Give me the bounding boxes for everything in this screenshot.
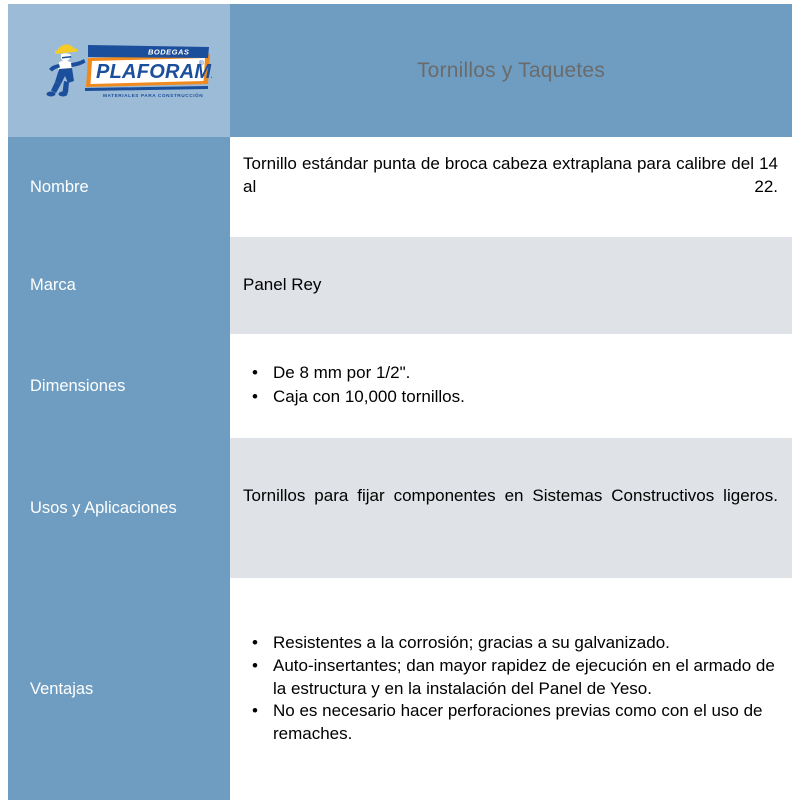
- logo-cell: PLAFORAMA ® BODEGAS MATERIALES PARA CONS…: [8, 4, 230, 137]
- bullet-icon: •: [252, 655, 258, 678]
- table-row: Usos y Aplicaciones Tornillos para fijar…: [8, 438, 792, 578]
- list-item: • Resistentes a la corrosión; gracias a …: [243, 632, 778, 655]
- svg-text:MATERIALES PARA CONSTRUCCIÓN: MATERIALES PARA CONSTRUCCIÓN: [103, 91, 203, 99]
- list-item-text: Resistentes a la corrosión; gracias a su…: [273, 633, 670, 652]
- spec-table: Nombre Tornillo estándar punta de broca …: [8, 137, 792, 800]
- row-value-marca: Panel Rey: [230, 237, 792, 334]
- list-item: • Auto-insertantes; dan mayor rapidez de…: [243, 655, 778, 701]
- svg-text:®: ®: [199, 59, 204, 67]
- list-item: • Caja con 10,000 tornillos.: [243, 386, 778, 409]
- header-title-cell: Tornillos y Taquetes: [230, 4, 792, 137]
- header-band: PLAFORAMA ® BODEGAS MATERIALES PARA CONS…: [8, 4, 792, 137]
- page-title: Tornillos y Taquetes: [417, 59, 605, 83]
- list-item-text: Caja con 10,000 tornillos.: [273, 387, 465, 406]
- list-item: • De 8 mm por 1/2".: [243, 362, 778, 385]
- bullet-icon: •: [252, 632, 258, 655]
- row-label-dimensiones: Dimensiones: [8, 334, 230, 438]
- list-item-text: Auto-insertantes; dan mayor rapidez de e…: [273, 656, 775, 698]
- svg-text:BODEGAS: BODEGAS: [148, 48, 189, 57]
- bullet-icon: •: [252, 700, 258, 723]
- svg-text:PLAFORAMA: PLAFORAMA: [96, 61, 212, 83]
- row-text: Tornillo estándar punta de broca cabeza …: [243, 153, 778, 221]
- row-value-usos-y-aplicaciones: Tornillos para fijar componentes en Sist…: [230, 438, 792, 578]
- row-value-nombre: Tornillo estándar punta de broca cabeza …: [230, 137, 792, 237]
- product-spec-sheet: PLAFORAMA ® BODEGAS MATERIALES PARA CONS…: [8, 4, 792, 800]
- row-text: Panel Rey: [243, 274, 778, 297]
- row-value-dimensiones: • De 8 mm por 1/2". • Caja con 10,000 to…: [230, 334, 792, 438]
- table-row: Marca Panel Rey: [8, 237, 792, 334]
- row-label-marca: Marca: [8, 237, 230, 334]
- row-value-ventajas: • Resistentes a la corrosión; gracias a …: [230, 578, 792, 800]
- row-text: Tornillos para fijar componentes en Sist…: [243, 485, 778, 530]
- table-row: Dimensiones • De 8 mm por 1/2". • Caja c…: [8, 334, 792, 438]
- list-item: • No es necesario hacer perforaciones pr…: [243, 700, 778, 746]
- table-row: Ventajas • Resistentes a la corrosión; g…: [8, 578, 792, 800]
- bullet-list: • Resistentes a la corrosión; gracias a …: [243, 632, 778, 747]
- row-label-ventajas: Ventajas: [8, 578, 230, 800]
- table-row: Nombre Tornillo estándar punta de broca …: [8, 137, 792, 237]
- bullet-icon: •: [252, 386, 258, 409]
- bullet-list: • De 8 mm por 1/2". • Caja con 10,000 to…: [243, 362, 778, 410]
- list-item-text: No es necesario hacer perforaciones prev…: [273, 701, 763, 743]
- row-label-nombre: Nombre: [8, 137, 230, 237]
- bullet-icon: •: [252, 362, 258, 385]
- row-label-usos-y-aplicaciones: Usos y Aplicaciones: [8, 438, 230, 578]
- list-item-text: De 8 mm por 1/2".: [273, 363, 410, 382]
- plaforama-logo: PLAFORAMA ® BODEGAS MATERIALES PARA CONS…: [40, 32, 212, 104]
